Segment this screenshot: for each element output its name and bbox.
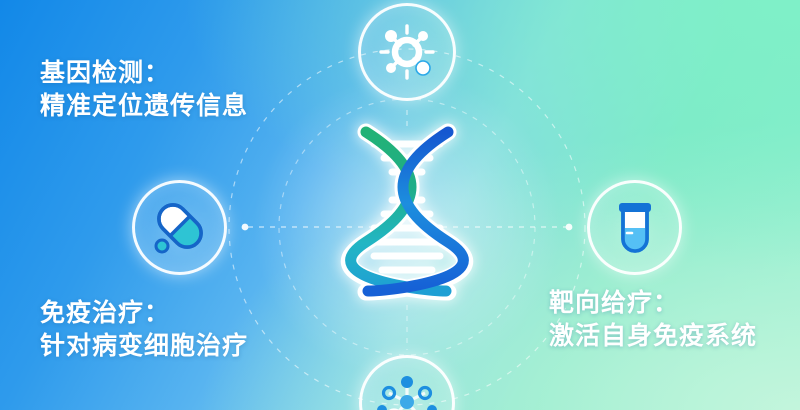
caption-immunotherapy-line1: 免疫治疗： — [40, 299, 170, 327]
caption-targeted-therapy-line1: 靶向给疗： — [549, 289, 679, 317]
dna-helix-icon — [340, 122, 474, 302]
capsule-pill-icon — [149, 197, 211, 259]
node-left-immunotherapy[interactable] — [132, 180, 227, 275]
caption-targeted-therapy: 靶向给疗： 激活自身免疫系统 — [549, 287, 757, 353]
infographic-canvas: 基因检测： 精准定位遗传信息 免疫治疗： 针对病变细胞治疗 靶向给疗： 激活自身… — [0, 0, 800, 410]
caption-immunotherapy-line2: 针对病变细胞治疗 — [40, 330, 248, 363]
connector-dot-left — [242, 224, 249, 231]
node-right-targeted-therapy[interactable] — [587, 180, 682, 275]
caption-gene-testing-line1: 基因检测： — [40, 59, 170, 87]
cell-molecule-icon — [376, 21, 438, 83]
molecule-network-icon — [374, 370, 440, 410]
caption-immunotherapy: 免疫治疗： 针对病变细胞治疗 — [40, 297, 248, 363]
node-top-gene-testing[interactable] — [358, 3, 456, 101]
test-tube-icon — [606, 197, 664, 259]
node-bottom-molecule-network[interactable] — [359, 355, 455, 410]
connector-dot-right — [566, 224, 573, 231]
caption-gene-testing: 基因检测： 精准定位遗传信息 — [40, 57, 248, 123]
caption-gene-testing-line2: 精准定位遗传信息 — [40, 90, 248, 123]
caption-targeted-therapy-line2: 激活自身免疫系统 — [549, 320, 757, 353]
